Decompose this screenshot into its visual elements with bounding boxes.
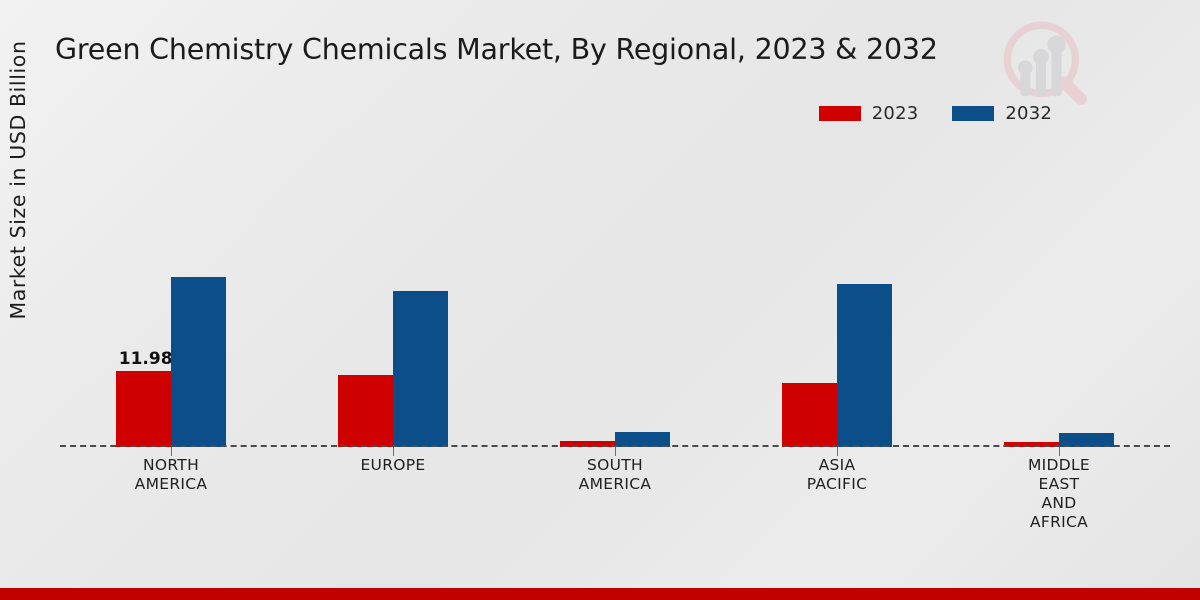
bar-2023-north-america[interactable]: 11.98 (116, 371, 171, 447)
bar-groups: 11.98 (60, 150, 1170, 447)
brand-watermark-logo (1000, 18, 1092, 110)
category-label-middle-east-and-africa: MIDDLE EAST AND AFRICA (948, 456, 1170, 532)
bar-2032-europe[interactable] (393, 291, 448, 447)
bar-chart-icon (1018, 35, 1066, 96)
chart-container: Green Chemistry Chemicals Market, By Reg… (0, 0, 1200, 600)
legend-swatch-2023 (819, 106, 861, 121)
legend-item-2032[interactable]: 2032 (952, 103, 1052, 124)
legend-item-2023[interactable]: 2023 (819, 103, 919, 124)
legend-swatch-2032 (952, 106, 994, 121)
tick-middle-east-and-africa (1059, 447, 1060, 456)
tick-europe (393, 447, 394, 456)
bar-group-asia-pacific (726, 150, 948, 447)
bar-group-middle-east-and-africa (948, 150, 1170, 447)
tick-south-america (615, 447, 616, 456)
plot-area: 11.98 (60, 150, 1170, 447)
category-label-europe: EUROPE (282, 456, 504, 532)
tick-asia-pacific (837, 447, 838, 456)
category-label-north-america: NORTH AMERICA (60, 456, 282, 532)
y-axis-title: Market Size in USD Billion (6, 10, 30, 350)
bottom-accent-stripe (0, 588, 1200, 600)
tick-north-america (171, 447, 172, 456)
chart-legend: 2023 2032 (819, 103, 1052, 124)
category-label-south-america: SOUTH AMERICA (504, 456, 726, 532)
category-label-asia-pacific: ASIA PACIFIC (726, 456, 948, 532)
x-axis-baseline (60, 445, 1170, 447)
x-axis-category-labels: NORTH AMERICA EUROPE SOUTH AMERICA ASIA … (60, 456, 1170, 532)
magnifier-icon (1007, 25, 1081, 99)
bar-group-north-america: 11.98 (60, 150, 282, 447)
bar-2023-europe[interactable] (338, 375, 393, 447)
legend-label-2032: 2032 (1005, 103, 1052, 124)
bar-2032-asia-pacific[interactable] (837, 284, 892, 447)
bar-group-south-america (504, 150, 726, 447)
bar-2032-north-america[interactable] (171, 277, 226, 447)
bar-2023-asia-pacific[interactable] (782, 383, 837, 447)
bar-value-label-north-america-2023: 11.98 (119, 349, 173, 369)
bar-group-europe (282, 150, 504, 447)
legend-label-2023: 2023 (872, 103, 919, 124)
chart-title: Green Chemistry Chemicals Market, By Reg… (55, 33, 938, 66)
